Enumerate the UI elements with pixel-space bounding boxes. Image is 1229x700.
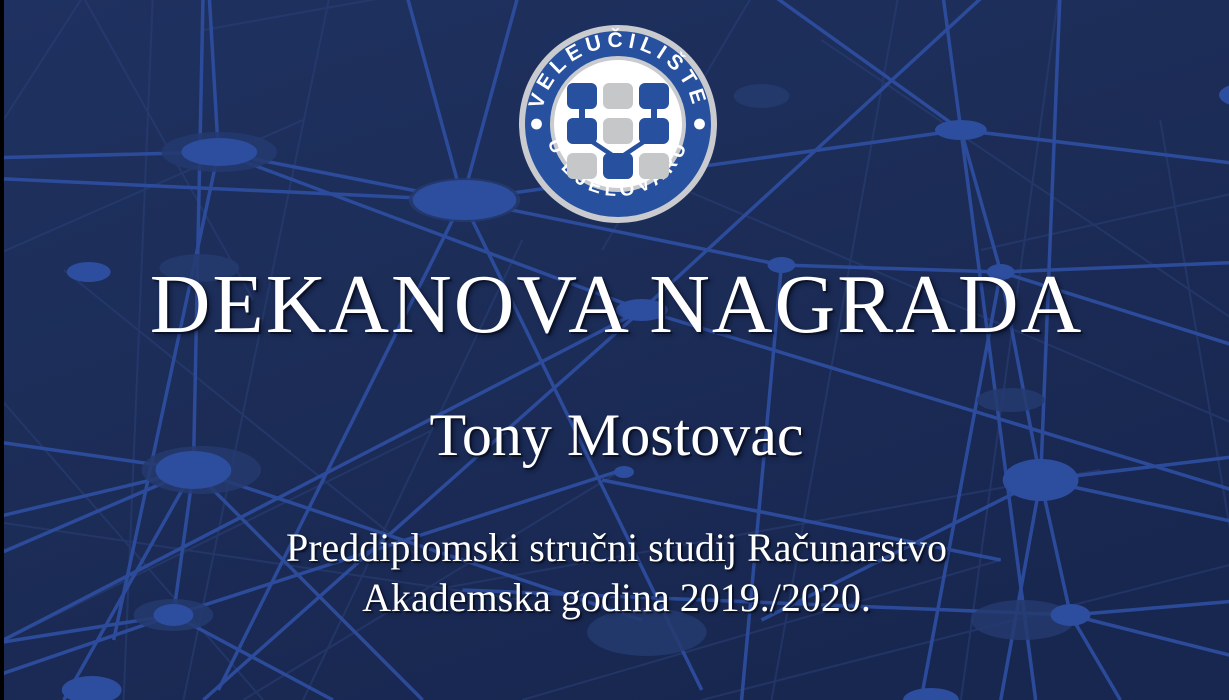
certificate-text-block: DEKANOVA NAGRADA Tony Mostovac Preddiplo… (4, 262, 1229, 623)
recipient-name: Tony Mostovac (4, 348, 1229, 467)
institution-logo: VELEUČILIŠTE U BJELOVARU (517, 23, 719, 225)
emblem-tile-r2c2 (603, 118, 633, 144)
programme-line: Preddiplomski stručni studij Računarstvo (4, 467, 1229, 573)
ring-dot-right (694, 119, 705, 130)
ring-dot-left (531, 119, 542, 130)
emblem-tile-r3c2 (603, 153, 633, 179)
emblem-tile-r2c3 (639, 118, 669, 144)
emblem-tile-r1c1 (567, 83, 597, 109)
institution-logo-svg: VELEUČILIŠTE U BJELOVARU (517, 23, 719, 225)
academic-year-line: Akademska godina 2019./2020. (4, 573, 1229, 623)
emblem-tile-r1c2 (603, 83, 633, 109)
award-title: DEKANOVA NAGRADA (4, 262, 1229, 348)
emblem-grid (567, 83, 669, 179)
award-certificate-slide: VELEUČILIŠTE U BJELOVARU (0, 0, 1229, 700)
emblem-tile-r1c3 (639, 83, 669, 109)
emblem-tile-r3c3 (639, 153, 669, 179)
emblem-tile-r3c1 (567, 153, 597, 179)
emblem-tile-r2c1 (567, 118, 597, 144)
